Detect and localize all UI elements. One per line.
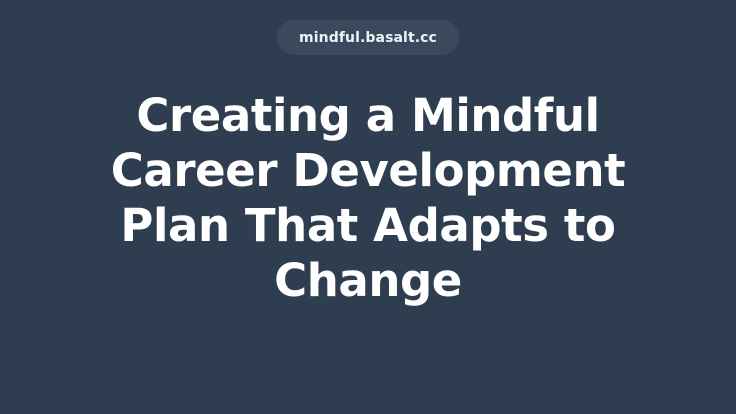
page-title-line-2: Career Development xyxy=(60,143,676,198)
social-share-card: mindful.basalt.cc Creating a Mindful Car… xyxy=(0,0,736,414)
page-title-line-1: Creating a Mindful xyxy=(60,88,676,143)
page-title-line-3: Plan That Adapts to xyxy=(60,198,676,253)
page-title-line-4: Change xyxy=(60,253,676,308)
site-domain-badge: mindful.basalt.cc xyxy=(277,20,459,55)
site-domain-label: mindful.basalt.cc xyxy=(299,31,437,45)
page-title: Creating a Mindful Career Development Pl… xyxy=(0,88,736,308)
